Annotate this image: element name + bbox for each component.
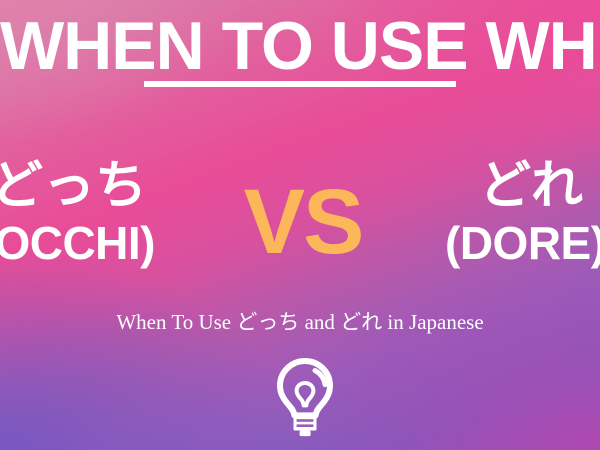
page-subtitle: When To Use どっち and どれ in Japanese (0, 308, 600, 336)
page-title: WHEN TO USE WHICH (0, 8, 600, 84)
title-underline-rule (144, 81, 456, 87)
term-right-kana: どれ (445, 150, 600, 216)
page-title-text: WHEN TO USE WHICH (0, 8, 600, 84)
term-right: どれ (DORE) (445, 150, 600, 290)
poster-canvas: WHEN TO USE WHICH どっち (DOCCHI) どれ (DORE)… (0, 0, 600, 450)
term-left: どっち (DOCCHI) (0, 150, 155, 290)
vs-separator-label: VS (228, 172, 378, 272)
term-right-romaji: (DORE) (445, 216, 600, 270)
lightbulb-icon (271, 357, 339, 441)
term-left-romaji: (DOCCHI) (0, 216, 155, 270)
term-left-kana: どっち (0, 150, 155, 216)
poster-content: WHEN TO USE WHICH どっち (DOCCHI) どれ (DORE)… (0, 0, 600, 450)
